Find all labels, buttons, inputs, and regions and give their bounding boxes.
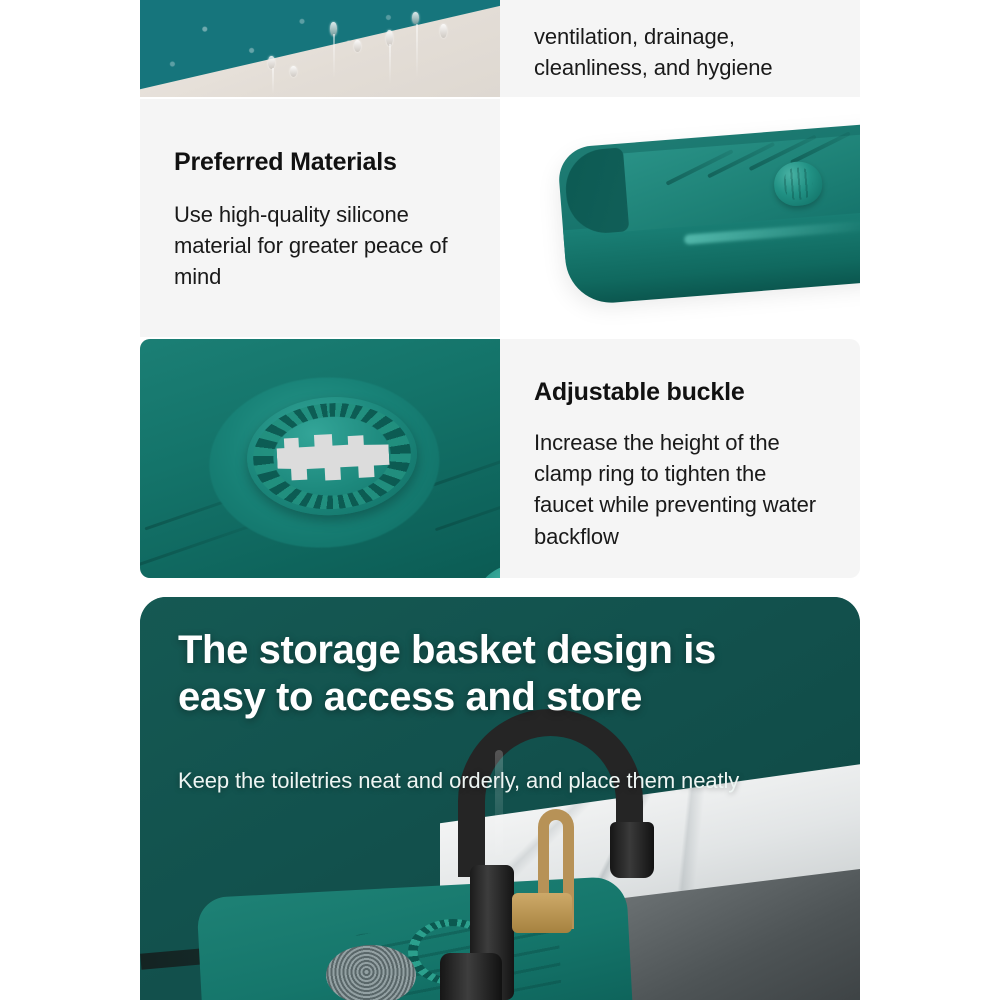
steel-scrubber bbox=[326, 945, 416, 1000]
drain-knob bbox=[475, 561, 500, 578]
faucet-base bbox=[440, 953, 502, 1000]
feature-card-buckle: Adjustable buckle Increase the height of… bbox=[500, 339, 860, 578]
feature-body-line-2: cleanliness, and hygiene bbox=[534, 55, 773, 80]
feature-body-materials: Use high-quality silicone material for g… bbox=[174, 199, 466, 293]
water-streak bbox=[333, 34, 335, 78]
water-droplets-photo bbox=[140, 0, 500, 97]
feature-body-buckle: Increase the height of the clamp ring to… bbox=[534, 427, 826, 552]
product-infographic-page: ventilation, drainage, cleanliness, and … bbox=[0, 0, 1000, 1000]
feature-body-line-1: ventilation, drainage, bbox=[534, 24, 735, 49]
mat-groove bbox=[435, 489, 500, 531]
hero-subtitle: Keep the toiletries neat and orderly, an… bbox=[178, 765, 778, 797]
feature-title-buckle: Adjustable buckle bbox=[534, 377, 826, 407]
water-streak bbox=[389, 44, 391, 84]
hero-title: The storage basket design is easy to acc… bbox=[178, 627, 778, 721]
mat-groove bbox=[140, 523, 254, 568]
feature-title-materials: Preferred Materials bbox=[174, 147, 466, 177]
faucet-spout bbox=[610, 822, 654, 878]
water-drop-icon bbox=[412, 12, 419, 24]
tray-ridge bbox=[790, 131, 851, 164]
water-drop-icon bbox=[354, 40, 361, 52]
feature-body-ventilation: ventilation, drainage, cleanliness, and … bbox=[534, 21, 826, 97]
buckle-closeup-photo bbox=[140, 339, 500, 578]
hero-text-block: The storage basket design is easy to acc… bbox=[178, 627, 778, 797]
drain-knob bbox=[772, 160, 823, 208]
feature-card-materials: Preferred Materials Use high-quality sil… bbox=[140, 99, 500, 337]
water-streak bbox=[416, 24, 418, 78]
water-streak bbox=[272, 68, 274, 94]
silicone-mat-surface bbox=[140, 339, 500, 578]
hero-title-line-2: easy to access and store bbox=[178, 675, 642, 719]
water-drop-icon bbox=[290, 66, 297, 77]
product-tray-photo bbox=[500, 99, 860, 337]
water-drop-icon bbox=[440, 24, 447, 38]
hero-title-line-1: The storage basket design is bbox=[178, 628, 716, 672]
feature-card-ventilation: ventilation, drainage, cleanliness, and … bbox=[500, 0, 860, 97]
gold-collar-band bbox=[512, 893, 572, 933]
silicone-tray bbox=[557, 122, 860, 298]
tray-lip bbox=[563, 147, 629, 235]
hero-storage-basket-panel: The storage basket design is easy to acc… bbox=[140, 597, 860, 1000]
